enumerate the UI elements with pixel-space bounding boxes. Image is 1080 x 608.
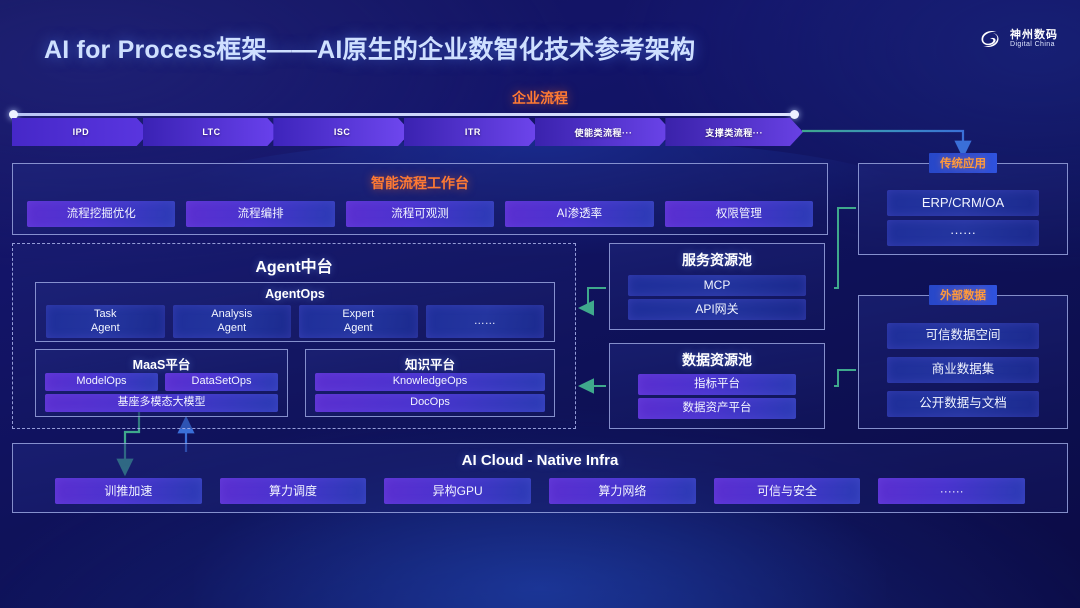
service-pool-row-api-gateway: API网关 [628, 299, 806, 320]
knowledge-card-knowledgeops[interactable]: KnowledgeOps [315, 373, 545, 391]
logo-text-block: 神州数码 Digital China [1010, 30, 1058, 49]
service-resource-pool-title: 服务资源池 [610, 250, 824, 270]
agentops-title: AgentOps [36, 287, 554, 301]
external-data-card-trusted-data-space[interactable]: 可信数据空间 [887, 323, 1039, 349]
infra-card-row: 训推加速 算力调度 异构GPU 算力网络 可信与安全 ······ [55, 478, 1025, 504]
process-stage-supporting[interactable]: 支撑类流程··· [665, 118, 803, 146]
agentops-card-analysis-agent[interactable]: AnalysisAgent [173, 305, 292, 338]
process-stage-band: IPD LTC ISC ITR 使能类流程··· 支撑类流程··· [12, 118, 796, 146]
data-resource-pool-panel: 数据资源池 指标平台 数据资产平台 [609, 343, 825, 429]
infra-card-trust-security[interactable]: 可信与安全 [714, 478, 861, 504]
infra-title: AI Cloud - Native Infra [13, 452, 1067, 469]
service-resource-pool-panel: 服务资源池 MCP API网关 [609, 243, 825, 330]
external-data-row-commercial: 商业数据集 [887, 357, 1039, 383]
external-data-card-commercial-dataset[interactable]: 商业数据集 [887, 357, 1039, 383]
maas-title: MaaS平台 [36, 354, 287, 373]
agentops-card-more[interactable]: …… [426, 305, 545, 338]
data-resource-pool-title: 数据资源池 [610, 350, 824, 370]
process-stage-label: LTC [202, 127, 220, 137]
workbench-panel: 智能流程工作台 流程挖掘优化 流程编排 流程可观测 AI渗透率 权限管理 [12, 163, 828, 235]
agent-platform-title: Agent中台 [13, 253, 575, 277]
knowledge-card-docops[interactable]: DocOps [315, 394, 545, 412]
process-rail [12, 113, 796, 116]
process-stage-label: ITR [465, 127, 481, 137]
digital-china-swirl-icon [977, 26, 1003, 52]
brand-logo: 神州数码 Digital China [977, 26, 1058, 52]
knowledge-panel: 知识平台 KnowledgeOps DocOps [305, 349, 555, 417]
workbench-card-process-mining[interactable]: 流程挖掘优化 [27, 201, 175, 227]
infra-card-compute-network[interactable]: 算力网络 [549, 478, 696, 504]
legacy-apps-card-more[interactable]: ······ [887, 220, 1039, 246]
process-stage-label: 使能类流程··· [575, 126, 633, 139]
agentops-card-expert-agent[interactable]: ExpertAgent [299, 305, 418, 338]
agentops-card-row: TaskAgent AnalysisAgent ExpertAgent …… [46, 305, 544, 338]
maas-panel: MaaS平台 ModelOps DataSetOps 基座多模态大模型 [35, 349, 288, 417]
process-stage-label: IPD [73, 127, 90, 137]
infra-card-more[interactable]: ······ [878, 478, 1025, 504]
knowledge-row-knowledgeops: KnowledgeOps [315, 373, 545, 391]
page-title: AI for Process框架——AI原生的企业数智化技术参考架构 [44, 30, 695, 66]
workbench-card-orchestration[interactable]: 流程编排 [186, 201, 334, 227]
legacy-apps-panel: 传统应用 ERP/CRM/OA ······ [858, 163, 1068, 255]
service-pool-row-mcp: MCP [628, 275, 806, 296]
infra-card-train-infer-accel[interactable]: 训推加速 [55, 478, 202, 504]
process-stage-itr[interactable]: ITR [404, 118, 542, 146]
legacy-apps-card-erp-crm-oa[interactable]: ERP/CRM/OA [887, 190, 1039, 216]
workbench-card-ai-penetration[interactable]: AI渗透率 [505, 201, 653, 227]
data-pool-row-metrics: 指标平台 [638, 374, 796, 395]
maas-row-ops: ModelOps DataSetOps [45, 373, 278, 391]
legacy-apps-row-more: ······ [887, 220, 1039, 246]
logo-name-en: Digital China [1010, 41, 1058, 48]
legacy-apps-row-erp: ERP/CRM/OA [887, 190, 1039, 216]
agentops-panel: AgentOps TaskAgent AnalysisAgent ExpertA… [35, 282, 555, 342]
maas-card-base-multimodal-model[interactable]: 基座多模态大模型 [45, 394, 278, 412]
data-pool-card-data-asset-platform[interactable]: 数据资产平台 [638, 398, 796, 419]
process-stage-label: 支撑类流程··· [705, 126, 763, 139]
service-pool-card-api-gateway[interactable]: API网关 [628, 299, 806, 320]
connector-legacy-bus [834, 208, 856, 288]
data-pool-card-metrics-platform[interactable]: 指标平台 [638, 374, 796, 395]
external-data-tag: 外部数据 [929, 285, 997, 305]
workbench-title: 智能流程工作台 [13, 173, 827, 193]
agent-platform-panel: Agent中台 AgentOps TaskAgent AnalysisAgent… [12, 243, 576, 429]
external-data-row-public: 公开数据与文档 [887, 391, 1039, 417]
maas-card-modelops[interactable]: ModelOps [45, 373, 158, 391]
data-pool-row-assets: 数据资产平台 [638, 398, 796, 419]
process-stage-ipd[interactable]: IPD [12, 118, 150, 146]
maas-card-datasetops[interactable]: DataSetOps [165, 373, 278, 391]
maas-row-base-model: 基座多模态大模型 [45, 394, 278, 412]
infra-panel: AI Cloud - Native Infra 训推加速 算力调度 异构GPU … [12, 443, 1068, 513]
logo-name-cn: 神州数码 [1010, 30, 1058, 42]
service-pool-card-mcp[interactable]: MCP [628, 275, 806, 296]
infra-card-heterogeneous-gpu[interactable]: 异构GPU [384, 478, 531, 504]
agentops-card-task-agent[interactable]: TaskAgent [46, 305, 165, 338]
legacy-apps-tag: 传统应用 [929, 153, 997, 173]
process-stage-label: ISC [334, 127, 351, 137]
infra-card-compute-scheduling[interactable]: 算力调度 [220, 478, 367, 504]
workbench-card-observability[interactable]: 流程可观测 [346, 201, 494, 227]
connector-extdata-bus [834, 370, 856, 386]
process-stage-isc[interactable]: ISC [273, 118, 411, 146]
process-band-title: 企业流程 [0, 88, 1080, 108]
process-stage-ltc[interactable]: LTC [143, 118, 281, 146]
connector-servicepool-to-agent [580, 288, 606, 308]
external-data-panel: 外部数据 可信数据空间 商业数据集 公开数据与文档 [858, 295, 1068, 429]
workbench-card-permissions[interactable]: 权限管理 [665, 201, 813, 227]
external-data-card-public-data-docs[interactable]: 公开数据与文档 [887, 391, 1039, 417]
knowledge-row-docops: DocOps [315, 394, 545, 412]
workbench-card-row: 流程挖掘优化 流程编排 流程可观测 AI渗透率 权限管理 [27, 201, 813, 227]
process-stage-enabling[interactable]: 使能类流程··· [535, 118, 673, 146]
external-data-row-trusted-space: 可信数据空间 [887, 323, 1039, 349]
knowledge-title: 知识平台 [306, 354, 554, 373]
